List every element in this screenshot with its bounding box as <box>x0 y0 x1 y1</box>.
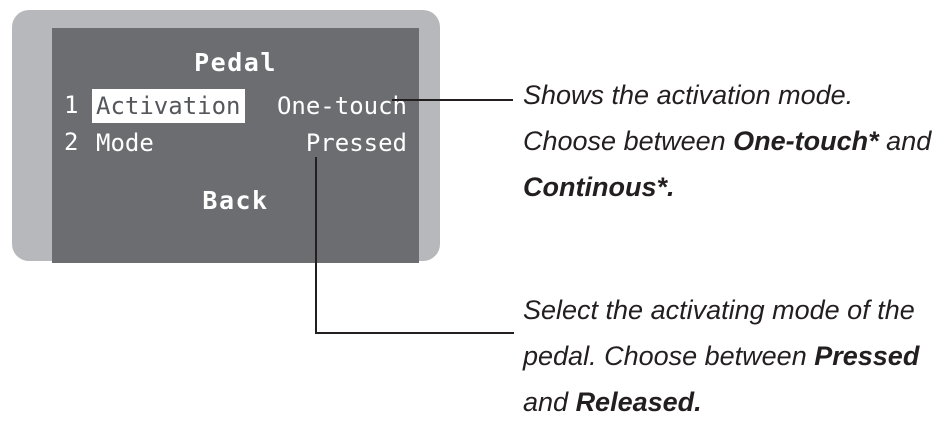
annotation-activation-bold-touch: touch* <box>795 126 879 156</box>
screen-title: Pedal <box>52 50 419 75</box>
menu-row-activation[interactable]: 1 Activation One-touch <box>64 89 407 123</box>
leader-line-activation <box>392 99 513 101</box>
device-bezel: Pedal 1 Activation One-touch 2 Mode Pres… <box>12 10 440 261</box>
annotation-mode-line1: Select the activating mode of <box>523 295 870 325</box>
annotation-activation: Shows the activation mode. Choose betwee… <box>523 72 943 210</box>
annotation-activation-bold-one: One- <box>733 126 795 156</box>
menu-row-mode[interactable]: 2 Mode Pressed <box>64 126 407 160</box>
lcd-screen: Pedal 1 Activation One-touch 2 Mode Pres… <box>52 28 419 263</box>
annotation-mode-line3-mid: and <box>523 387 576 417</box>
back-button[interactable]: Back <box>52 188 419 213</box>
annotation-activation-line3-mid: and <box>879 126 932 156</box>
menu-item-activation-value[interactable]: One-touch <box>277 89 407 123</box>
menu-item-mode-value[interactable]: Pressed <box>306 126 407 160</box>
annotation-activation-line2-prefix: Choose between <box>523 126 733 156</box>
menu-item-mode-label[interactable]: Mode <box>92 126 158 160</box>
leader-line-mode-vertical <box>315 157 317 334</box>
annotation-mode: Select the activating mode of the pedal.… <box>523 287 943 425</box>
annotation-mode-bold-released: Released. <box>576 387 702 417</box>
menu-row-index: 2 <box>64 130 78 154</box>
menu-item-activation-label[interactable]: Activation <box>92 89 245 123</box>
annotation-mode-bold-pressed: Pressed <box>814 341 919 371</box>
annotation-activation-bold-continous: Continous*. <box>523 172 674 202</box>
menu-row-index: 1 <box>64 93 78 117</box>
leader-line-mode-horizontal <box>315 332 514 334</box>
annotation-activation-line1: Shows the activation mode. <box>523 80 853 110</box>
